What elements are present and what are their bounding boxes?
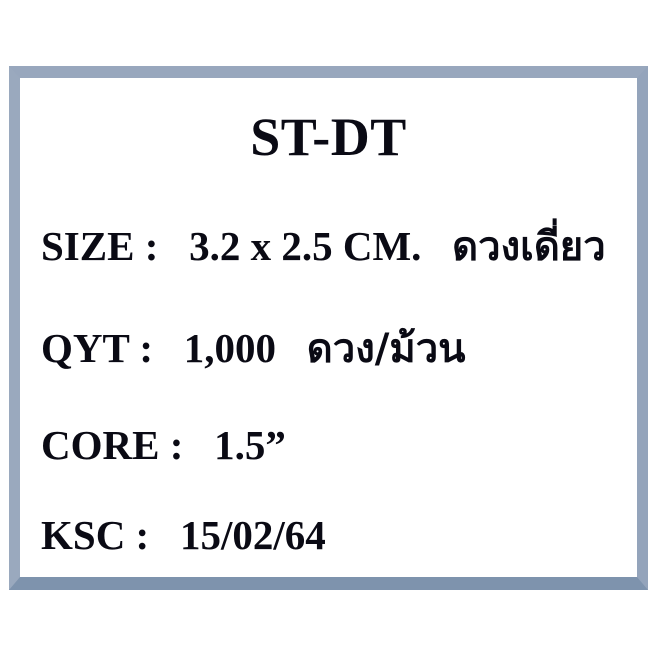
spec-label-qyt: QYT : [41,325,153,371]
spec-value-core: 1.5” [214,422,286,468]
spec-label-core: CORE : [41,422,183,468]
spec-row-ksc: KSC : 15/02/64 [41,515,326,556]
spec-value-qyt-thai: ดวง/ม้วน [307,326,466,372]
page-title: ST-DT [20,110,637,164]
spec-row-size: SIZE : 3.2 x 2.5 CM. ดวงเดี่ยว [41,226,606,267]
label-card: ST-DT SIZE : 3.2 x 2.5 CM. ดวงเดี่ยว QYT… [9,66,648,590]
spec-value-size-thai: ดวงเดี่ยว [452,224,606,270]
spec-value-size: 3.2 x 2.5 CM. [189,223,421,269]
spec-value-ksc: 15/02/64 [180,512,326,558]
spec-value-qyt: 1,000 [184,325,276,371]
spec-label-ksc: KSC : [41,512,149,558]
label-canvas: ST-DT SIZE : 3.2 x 2.5 CM. ดวงเดี่ยว QYT… [0,0,657,657]
spec-label-size: SIZE : [41,223,158,269]
spec-row-core: CORE : 1.5” [41,425,286,466]
label-content-area: ST-DT SIZE : 3.2 x 2.5 CM. ดวงเดี่ยว QYT… [20,78,637,577]
spec-row-qyt: QYT : 1,000 ดวง/ม้วน [41,328,466,369]
